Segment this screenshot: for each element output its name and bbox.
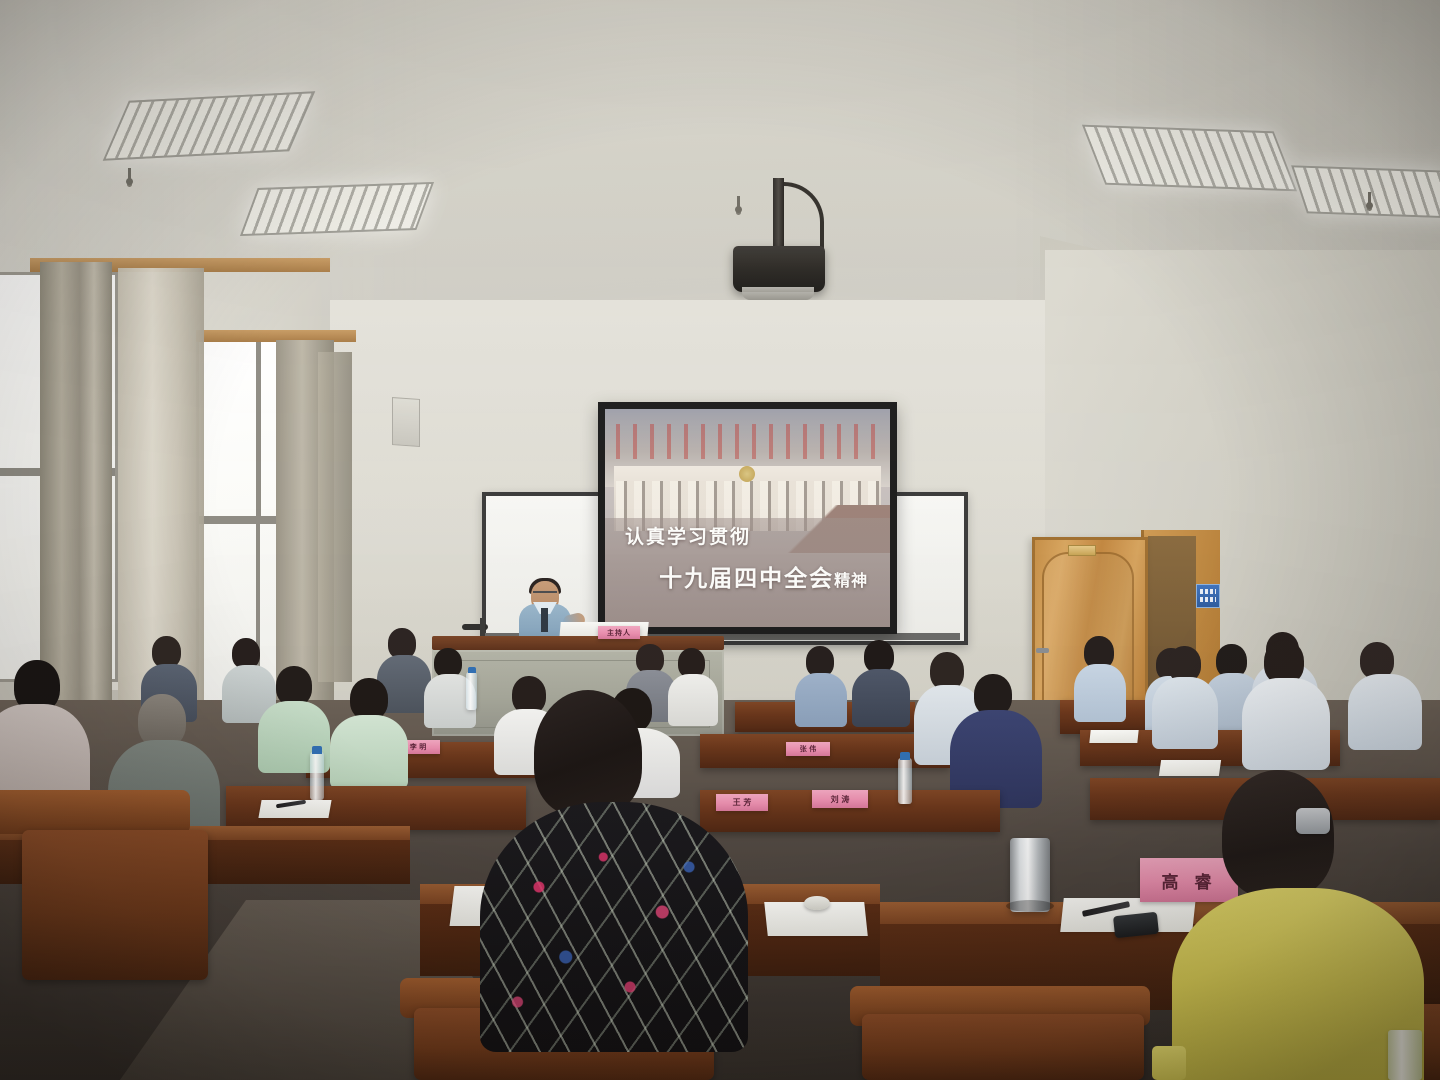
chair[interactable] bbox=[862, 1014, 1144, 1080]
presenter-tie bbox=[541, 608, 548, 632]
sprinkler-icon bbox=[1366, 202, 1373, 209]
exit-sign bbox=[1068, 545, 1096, 556]
bag bbox=[1152, 1046, 1186, 1080]
wall-notice-plaque bbox=[1196, 584, 1220, 608]
conference-room-photo: 认真学习贯彻 十九届四中全会精神 主持人 bbox=[0, 0, 1440, 1080]
chair-back[interactable] bbox=[0, 790, 190, 834]
chair[interactable] bbox=[22, 830, 208, 980]
water-bottle bbox=[466, 672, 477, 710]
slide-headline-line1: 认真学习贯彻 bbox=[625, 522, 751, 549]
slide-headline-line2: 十九届四中全会精神 bbox=[659, 559, 868, 593]
bottle-cap bbox=[312, 746, 322, 754]
water-bottle bbox=[898, 758, 912, 804]
slide-headline-main: 十九届四中全会 bbox=[659, 566, 834, 592]
ceiling-light-fixture bbox=[1291, 165, 1440, 218]
curtain-panel[interactable] bbox=[318, 352, 352, 682]
hair-clip-icon bbox=[1296, 808, 1330, 834]
sprinkler-icon bbox=[735, 206, 742, 213]
name-placard: 王 芳 bbox=[716, 794, 768, 811]
name-placard-foreground: 高 睿 bbox=[1140, 858, 1238, 902]
projected-slide: 认真学习贯彻 十九届四中全会精神 bbox=[605, 409, 890, 627]
projector-lens bbox=[742, 287, 814, 300]
projector-mount bbox=[773, 178, 784, 248]
name-placard: 主持人 bbox=[598, 626, 640, 639]
water-bottle bbox=[1388, 1030, 1422, 1080]
glasses-icon bbox=[533, 591, 557, 598]
tea-cup bbox=[804, 896, 830, 910]
bottle-cap bbox=[468, 667, 476, 673]
ceiling-light-fixture bbox=[103, 91, 315, 160]
podium-desktop bbox=[432, 636, 724, 650]
sprinkler-icon bbox=[126, 178, 133, 185]
name-placard: 刘 涛 bbox=[812, 790, 868, 808]
water-bottle bbox=[310, 752, 324, 800]
door-handle-icon[interactable] bbox=[1036, 648, 1049, 653]
name-placard: 张 伟 bbox=[786, 742, 830, 756]
slide-headline-suffix: 精神 bbox=[834, 571, 868, 590]
slide-flags bbox=[616, 424, 878, 459]
speaker-icon bbox=[392, 397, 420, 447]
ceiling-light-fixture bbox=[240, 182, 434, 236]
thermos-shadow bbox=[1006, 900, 1054, 912]
document-sheet bbox=[1159, 760, 1221, 776]
document-sheet bbox=[1089, 730, 1138, 743]
national-emblem-icon bbox=[739, 466, 755, 482]
bottle-cap bbox=[900, 752, 910, 760]
ceiling-light-fixture bbox=[1082, 125, 1297, 192]
mobile-phone[interactable] bbox=[1113, 912, 1159, 938]
projection-screen: 认真学习贯彻 十九届四中全会精神 bbox=[598, 402, 897, 634]
projector-icon bbox=[733, 246, 825, 292]
